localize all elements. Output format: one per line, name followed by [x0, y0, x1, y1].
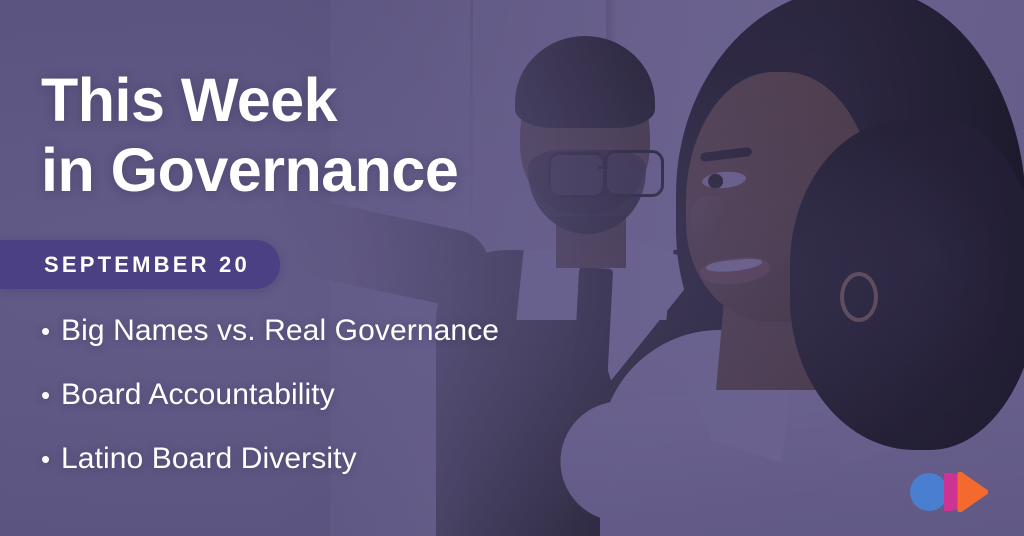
topic-list: • Big Names vs. Real Governance • Board … [41, 316, 499, 508]
date-badge: SEPTEMBER 20 [0, 240, 280, 289]
list-item-label: Board Accountability [61, 380, 335, 410]
bullet-icon: • [41, 380, 61, 410]
brand-logo [910, 472, 988, 512]
date-badge-label: SEPTEMBER 20 [44, 252, 250, 278]
logo-circle-icon [910, 473, 948, 511]
page-title: This Week in Governance [41, 66, 458, 205]
list-item-label: Latino Board Diversity [61, 444, 357, 474]
newsletter-banner: This Week in Governance SEPTEMBER 20 • B… [0, 0, 1024, 536]
bullet-icon: • [41, 444, 61, 474]
list-item-label: Big Names vs. Real Governance [61, 316, 499, 346]
list-item: • Big Names vs. Real Governance [41, 316, 499, 380]
list-item: • Latino Board Diversity [41, 444, 499, 508]
bullet-icon: • [41, 316, 61, 346]
logo-play-triangle-icon [960, 474, 986, 510]
list-item: • Board Accountability [41, 380, 499, 444]
banner-content: This Week in Governance SEPTEMBER 20 • B… [0, 0, 1024, 536]
